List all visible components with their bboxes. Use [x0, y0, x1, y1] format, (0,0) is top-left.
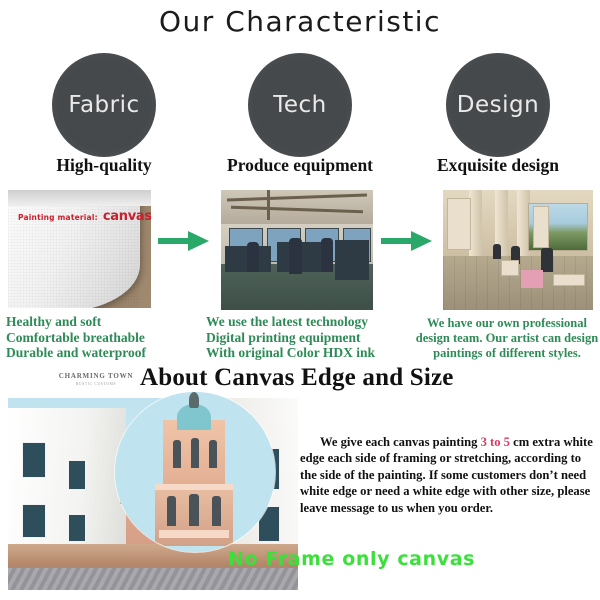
edge-text-part-1: We give each canvas painting — [320, 435, 481, 449]
description-design-line-2: design team. Our artist can design — [414, 331, 600, 346]
caption-produce-equipment: Produce equipment — [200, 155, 400, 176]
studio-artist-1 — [541, 248, 553, 272]
characteristic-item-design: Design — [398, 53, 598, 157]
canvas-material-label-big: canvas — [103, 209, 151, 224]
description-tech-line-1: We use the latest technology — [206, 314, 406, 330]
street-window-3 — [68, 460, 86, 490]
description-fabric-line-1: Healthy and soft — [6, 314, 201, 330]
caption-high-quality: High-quality — [4, 155, 204, 176]
infographic-page: Our Characteristic Fabric Tech Design Hi… — [0, 0, 600, 600]
studio-easel-2 — [553, 274, 585, 286]
description-fabric-line-2: Comfortable breathable — [6, 330, 201, 346]
street-window-4 — [68, 514, 86, 542]
characteristic-item-tech: Tech — [200, 53, 400, 157]
canvas-material-label: Painting material: canvas — [18, 205, 151, 224]
circle-badge-fabric: Fabric — [52, 53, 156, 157]
arrow-right-icon — [158, 228, 210, 254]
description-tech: We use the latest technology Digital pri… — [206, 314, 406, 361]
street-window-2 — [22, 504, 46, 538]
description-design-line-3: paintings of different styles. — [414, 346, 600, 361]
characteristic-captions-row: High-quality Produce equipment Exquisite… — [0, 155, 600, 177]
factory-worker-2 — [289, 238, 302, 274]
studio-panel-2 — [533, 206, 549, 248]
lens-window-1 — [173, 440, 181, 468]
studio-easel-1 — [501, 260, 519, 276]
lens-window-5 — [189, 494, 199, 526]
lens-tower-spire-statue — [189, 392, 199, 408]
circle-label-design: Design — [457, 92, 539, 118]
caption-exquisite-design: Exquisite design — [398, 155, 598, 176]
characteristic-circles-row: Fabric Tech Design — [0, 53, 600, 161]
page-title: Our Characteristic — [0, 0, 600, 42]
lens-window-4 — [167, 496, 176, 526]
description-tech-line-2: Digital printing equipment — [206, 330, 406, 346]
canvas-material-label-small: Painting material: — [18, 213, 98, 222]
circle-badge-design: Design — [446, 53, 550, 157]
street-cobblestone — [8, 568, 298, 590]
circle-label-tech: Tech — [273, 92, 327, 118]
edge-size-highlight: 3 to 5 — [481, 435, 510, 449]
description-tech-line-3: With original Color HDX ink — [206, 345, 406, 361]
characteristic-item-fabric: Fabric — [4, 53, 204, 157]
printing-machine-3 — [335, 240, 369, 280]
photo-printing-factory — [221, 190, 373, 310]
green-arrow-right-1 — [158, 228, 210, 254]
street-window-1 — [22, 442, 46, 478]
lens-window-2 — [191, 438, 199, 468]
studio-panel-1 — [447, 198, 471, 250]
arrow-right-icon — [381, 228, 433, 254]
factory-worker-3 — [321, 238, 333, 272]
lens-window-6 — [212, 496, 221, 526]
lens-cornice-1 — [155, 484, 233, 490]
lens-cornice-2 — [159, 530, 229, 538]
green-arrow-right-2 — [381, 228, 433, 254]
brand-name: CHARMING TOWN — [56, 372, 136, 380]
magnified-detail-circle — [115, 392, 275, 552]
factory-beam-3 — [267, 190, 270, 220]
circle-label-fabric: Fabric — [68, 92, 139, 118]
no-frame-note: No Frame only canvas — [228, 548, 475, 570]
circle-badge-tech: Tech — [248, 53, 352, 157]
brand-tagline: RUSTIC CUSTOMS — [56, 382, 136, 386]
canvas-edge-description: We give each canvas painting 3 to 5 cm e… — [300, 434, 596, 516]
photo-canvas-material: Painting material: canvas — [8, 190, 151, 308]
description-design: We have our own professional design team… — [414, 316, 600, 361]
description-design-line-1: We have our own professional — [414, 316, 600, 331]
brand-logo: CHARMING TOWN RUSTIC CUSTOMS — [56, 372, 136, 386]
description-fabric: Healthy and soft Comfortable breathable … — [6, 314, 201, 361]
section-title-canvas-edge: About Canvas Edge and Size — [140, 363, 470, 393]
studio-artist-3 — [493, 244, 501, 259]
factory-worker-1 — [247, 242, 259, 272]
photo-canvas-top-edge — [8, 190, 151, 206]
description-fabric-line-3: Durable and waterproof — [6, 345, 201, 361]
lens-window-3 — [209, 440, 217, 468]
studio-pink-cart — [521, 270, 543, 288]
photo-design-studio — [443, 190, 593, 310]
